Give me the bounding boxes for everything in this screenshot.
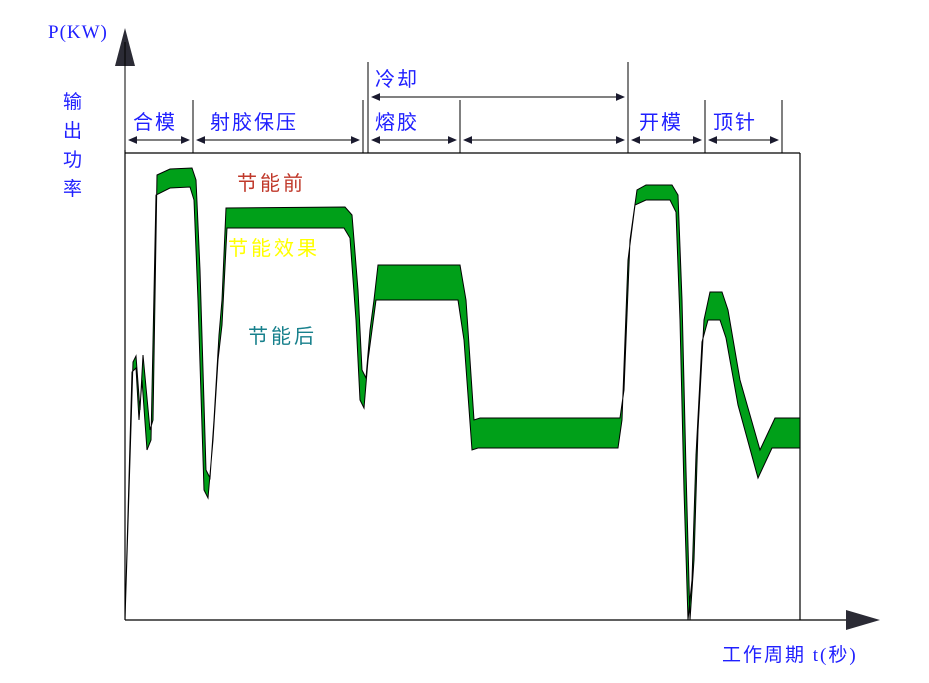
x-axis [125, 610, 880, 630]
y-axis-vertical-char-2: 功 [63, 149, 82, 171]
annotation-before-saving: 节能前 [237, 172, 306, 195]
phase-label-mold-close: 合模 [133, 111, 177, 134]
energy-saving-band [125, 168, 800, 620]
y-axis-vertical-char-3: 率 [63, 178, 82, 200]
phase-label-mold-open: 开模 [639, 111, 683, 134]
annotation-after-saving: 节能后 [248, 325, 317, 348]
y-axis-title: P(KW) [48, 22, 108, 43]
y-axis-vertical-label: 输 出 功 率 [63, 91, 82, 200]
x-axis-title: 工作周期 t(秒) [722, 644, 858, 666]
y-axis-vertical-char-0: 输 [63, 91, 82, 113]
phase-label-ejector-pin: 顶针 [713, 111, 757, 134]
y-axis-vertical-char-1: 出 [63, 120, 82, 142]
phase-label-inject-hold: 射胶保压 [210, 111, 298, 134]
phase-label-melt-glue: 熔胶 [375, 111, 419, 134]
figure-canvas: 冷却 合模 射胶保压 熔胶 开模 顶针 P(KW) 输 出 功 率 节能前 节能… [0, 0, 929, 683]
x-axis-arrow-icon [846, 610, 880, 630]
power-cycle-chart: 冷却 合模 射胶保压 熔胶 开模 顶针 P(KW) 输 出 功 率 节能前 节能… [0, 0, 929, 683]
phase-label-cooling: 冷却 [375, 68, 419, 91]
annotation-saving-effect: 节能效果 [228, 237, 320, 260]
